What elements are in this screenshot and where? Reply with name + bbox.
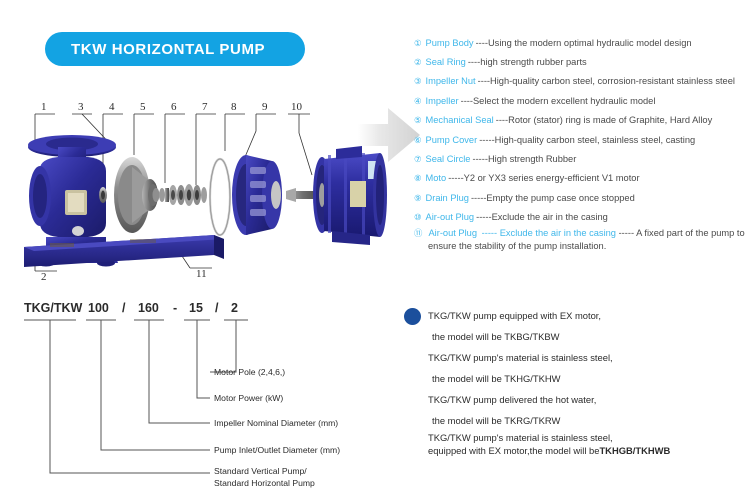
legend-description: Empty the pump case once stopped — [486, 193, 634, 203]
legend-part-name: Air-out Plug — [426, 212, 475, 222]
callout-2: 2 — [41, 271, 47, 283]
code-separator-1: / — [122, 301, 126, 315]
callout-10: 10 — [291, 101, 303, 113]
variant-note-model: TKHGB/TKHWB — [599, 445, 670, 456]
legend-part-name: Impeller Nut — [426, 76, 476, 86]
page-title: TKW HORIZONTAL PUMP — [45, 41, 265, 58]
legend-part-name: Pump Cover — [426, 135, 478, 145]
legend-item: ⑨ Drain Plug ----- Empty the pump case o… — [414, 188, 754, 207]
seal-ring-part — [99, 187, 107, 203]
code-label-power: Motor Power (kW) — [214, 393, 283, 403]
code-label-type-2: Standard Horizontal Pump — [214, 478, 315, 488]
code-label-impeller: Impeller Nominal Diameter (mm) — [214, 418, 338, 428]
legend-number: ⑦ — [414, 154, 422, 164]
variant-note-line-final: equipped with EX motor,the model will be… — [404, 444, 752, 457]
variant-note-line: TKG/TKW pump delivered the hot water, — [404, 389, 752, 410]
legend-number: ④ — [414, 96, 422, 106]
impeller-part — [114, 157, 160, 233]
exploded-pump-diagram: 1 3 4 5 6 7 8 9 10 2 11 — [10, 95, 390, 285]
legend-separator: ----- — [448, 173, 463, 183]
legend-description: A fixed part of the pump to — [636, 228, 745, 238]
variant-note-prefix: equipped with EX motor,the model will be — [428, 445, 599, 456]
legend-number: ① — [414, 38, 422, 48]
right-arrow-icon — [358, 100, 422, 170]
code-leader-lines — [50, 320, 236, 473]
legend-item: ② Seal Ring ---- high strength rubber pa… — [414, 52, 754, 71]
legend-separator: ----- — [471, 193, 486, 203]
legend-item: ⑤ Mechanical Seal ---- Rotor (stator) ri… — [414, 111, 754, 130]
legend-part-name: Moto — [426, 173, 447, 183]
legend-part-name: Mechanical Seal — [426, 115, 494, 125]
legend-description: High-quality carbon steel, corrosion-res… — [490, 76, 735, 86]
legend-number: ⑧ — [414, 173, 422, 183]
legend-number: ⑩ — [414, 212, 422, 222]
legend-description: Exclude the air in the casing — [492, 212, 608, 222]
legend-description: Y2 or YX3 series energy-efficient V1 mot… — [464, 173, 640, 183]
model-code-breakdown: TKG/TKW 100 / 160 - 15 / 2 — [14, 298, 384, 493]
legend-part-name: Seal Circle — [426, 154, 471, 164]
callout-7: 7 — [202, 101, 208, 113]
variant-note-line: the model will be TKHG/TKHW — [404, 368, 752, 389]
variant-note-line: TKG/TKW pump's material is stainless ste… — [404, 347, 752, 368]
callout-1: 1 — [41, 101, 47, 113]
callout-3: 3 — [78, 101, 84, 113]
code-segment-inlet: 100 — [88, 301, 109, 315]
seal-circle-part — [210, 159, 230, 235]
page-title-banner: TKW HORIZONTAL PUMP — [45, 32, 305, 66]
legend-number: ⑪ — [414, 227, 422, 240]
legend-description: High strength Rubber — [488, 154, 576, 164]
variant-note-line: TKG/TKW pump's material is stainless ste… — [404, 431, 752, 444]
legend-separator-2: ----- — [619, 228, 634, 238]
legend-number: ③ — [414, 76, 422, 86]
legend-description: high strength rubber parts — [480, 57, 586, 67]
product-spec-sheet: TKW HORIZONTAL PUMP — [0, 0, 756, 500]
callout-11: 11 — [196, 268, 207, 280]
callout-4: 4 — [109, 101, 115, 113]
legend-item: ① Pump Body ---- Using the modern optima… — [414, 33, 754, 52]
variant-note-line: TKG/TKW pump equipped with EX motor, — [404, 305, 752, 326]
code-separator-2: - — [173, 301, 177, 315]
legend-description-blue: Exclude the air in the casing — [500, 228, 616, 238]
pump-cover-part — [232, 155, 282, 235]
code-separator-3: / — [215, 301, 219, 315]
legend-item: ⑥ Pump Cover ----- High-quality carbon s… — [414, 130, 754, 149]
legend-description: High-quality carbon steel, stainless ste… — [495, 135, 696, 145]
legend-separator: ---- — [478, 76, 490, 86]
mechanical-seal-part — [159, 184, 207, 206]
legend-part-name: Seal Ring — [426, 57, 466, 67]
legend-part-name: Air-out Plug — [428, 228, 477, 238]
legend-part-name: Pump Body — [426, 38, 474, 48]
code-label-type-1: Standard Vertical Pump/ — [214, 466, 307, 476]
legend-item: ⑪ Air-out Plug ----- Exclude the air in … — [414, 227, 754, 252]
legend-separator: ---- — [468, 57, 480, 67]
legend-separator: ----- — [479, 135, 494, 145]
legend-separator: ---- — [476, 38, 488, 48]
code-label-inlet: Pump Inlet/Outlet Diameter (mm) — [214, 445, 340, 455]
legend-description: Rotor (stator) ring is made of Graphite,… — [508, 115, 712, 125]
legend-number: ② — [414, 57, 422, 67]
legend-item: ⑧ Moto ----- Y2 or YX3 series energy-eff… — [414, 169, 754, 188]
legend-number: ⑥ — [414, 135, 422, 145]
callout-9: 9 — [262, 101, 268, 113]
bullet-dot-icon — [404, 308, 421, 325]
legend-item: ③ Impeller Nut ---- High-quality carbon … — [414, 72, 754, 91]
model-variant-notes: TKG/TKW pump equipped with EX motor, the… — [404, 305, 752, 457]
legend-description-line2: ensure the stability of the pump install… — [414, 240, 754, 253]
legend-part-name: Impeller — [426, 96, 459, 106]
legend-separator: ---- — [496, 115, 508, 125]
variant-note-line: the model will be TKRG/TKRW — [404, 410, 752, 431]
legend-separator: ----- — [476, 212, 491, 222]
legend-description: Using the modern optimal hydraulic model… — [488, 38, 692, 48]
legend-item: ⑦ Seal Circle ----- High strength Rubber — [414, 149, 754, 168]
callout-8: 8 — [231, 101, 237, 113]
code-segment-power: 15 — [189, 301, 203, 315]
parts-legend-list: ① Pump Body ---- Using the modern optima… — [414, 33, 754, 252]
legend-part-name: Drain Plug — [426, 193, 469, 203]
legend-separator: ----- — [482, 228, 497, 238]
legend-number: ⑨ — [414, 193, 422, 203]
code-label-pole: Motor Pole (2,4,6,) — [214, 367, 285, 377]
variant-note-line: the model will be TKBG/TKBW — [404, 326, 752, 347]
legend-separator: ----- — [472, 154, 487, 164]
callout-5: 5 — [140, 101, 146, 113]
code-segment-impeller: 160 — [138, 301, 159, 315]
legend-description: Select the modern excellent hydraulic mo… — [473, 96, 655, 106]
callout-6: 6 — [171, 101, 177, 113]
legend-separator: ---- — [461, 96, 473, 106]
legend-item: ⑩ Air-out Plug ----- Exclude the air in … — [414, 208, 754, 227]
legend-item: ④ Impeller ---- Select the modern excell… — [414, 91, 754, 110]
legend-number: ⑤ — [414, 115, 422, 125]
code-segment-prefix: TKG/TKW — [24, 301, 83, 315]
code-segment-pole: 2 — [231, 301, 238, 315]
